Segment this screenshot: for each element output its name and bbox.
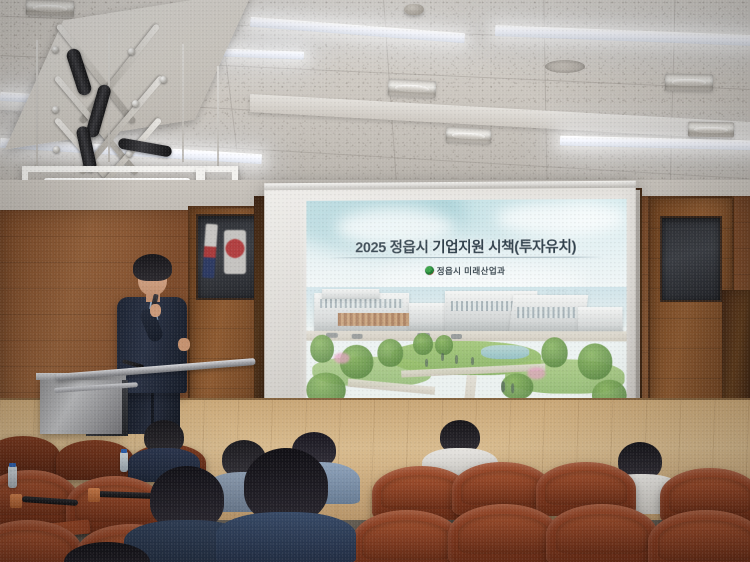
lift-cable	[36, 40, 38, 170]
water-bottle-cap	[9, 463, 16, 467]
scissor-pivot	[126, 150, 133, 157]
slide-title: 2025 정읍시 기업지원 시책(투자유치)	[306, 235, 626, 257]
ceiling-vent	[545, 60, 585, 73]
auditorium-seat[interactable]	[546, 504, 658, 562]
downlight	[26, 0, 75, 17]
slide-organization-text: 정읍시 미래산업과	[437, 266, 506, 276]
rendering-water-feature	[481, 345, 529, 359]
presentation-slide: 2025 정읍시 기업지원 시책(투자유치) 정읍시 미래산업과 2025. 6…	[306, 199, 626, 413]
rendering-brick-facade	[338, 313, 411, 326]
water-bottle[interactable]	[120, 452, 128, 472]
rendering-figure	[501, 381, 505, 392]
rendering-figure	[511, 383, 514, 393]
seat-arm-hinge	[10, 494, 22, 508]
auditorium-seat[interactable]	[448, 504, 560, 562]
rendering-car	[451, 334, 462, 339]
audience-shoulders-foreground	[216, 512, 356, 562]
downlight	[665, 74, 713, 92]
downlight	[446, 127, 492, 144]
audience-head-foreground	[244, 448, 328, 522]
presenter-hand-holding-mic	[150, 304, 161, 317]
lift-cable	[182, 44, 184, 162]
rendering-figure	[471, 357, 474, 365]
rendering-car	[352, 334, 363, 339]
scissor-pivot	[160, 76, 167, 83]
water-bottle-cap	[121, 449, 127, 453]
jeongeup-city-logo-icon	[425, 266, 434, 275]
rendering-tree	[578, 343, 613, 379]
flag-decoration	[224, 230, 246, 274]
auditorium-photo: 2025 정읍시 기업지원 시책(투자유치) 정읍시 미래산업과 2025. 6…	[0, 0, 750, 562]
rendering-figure	[425, 359, 428, 367]
slide-cloud	[495, 201, 627, 236]
downlight	[688, 122, 734, 138]
water-bottle[interactable]	[8, 466, 17, 488]
scissor-pivot	[53, 146, 60, 153]
slide-title-underline	[328, 257, 604, 259]
downlight	[388, 79, 437, 98]
rendering-building	[578, 307, 623, 333]
rendering-tree	[435, 335, 453, 355]
smoke-detector	[404, 4, 424, 15]
lift-cable	[217, 66, 219, 166]
door-window-right	[660, 216, 722, 302]
presenter-right-hand	[178, 338, 190, 351]
rendering-figure	[441, 353, 444, 361]
screen-top-bar	[264, 181, 636, 191]
rendering-tree	[310, 335, 334, 363]
rendering-figure	[455, 355, 458, 364]
scissor-pivot	[52, 46, 59, 53]
rendering-tree	[377, 339, 403, 367]
rendering-glazing	[320, 299, 403, 308]
presenter-hair	[133, 254, 172, 281]
scissor-pivot	[52, 106, 59, 113]
rendering-tree	[413, 333, 433, 355]
slide-organization: 정읍시 미래산업과	[306, 265, 626, 278]
scissor-pivot	[132, 100, 139, 107]
rendering-flowering-tree	[334, 353, 350, 364]
rendering-tree	[541, 337, 567, 367]
slide-rendering-image	[306, 287, 626, 413]
seat-arm-hinge	[88, 488, 100, 502]
rendering-flowering-tree	[527, 367, 545, 379]
projection-screen: 2025 정읍시 기업지원 시책(투자유치) 정읍시 미래산업과 2025. 6…	[264, 181, 636, 427]
rendering-glazing	[517, 307, 580, 318]
scissor-pivot	[128, 48, 135, 55]
